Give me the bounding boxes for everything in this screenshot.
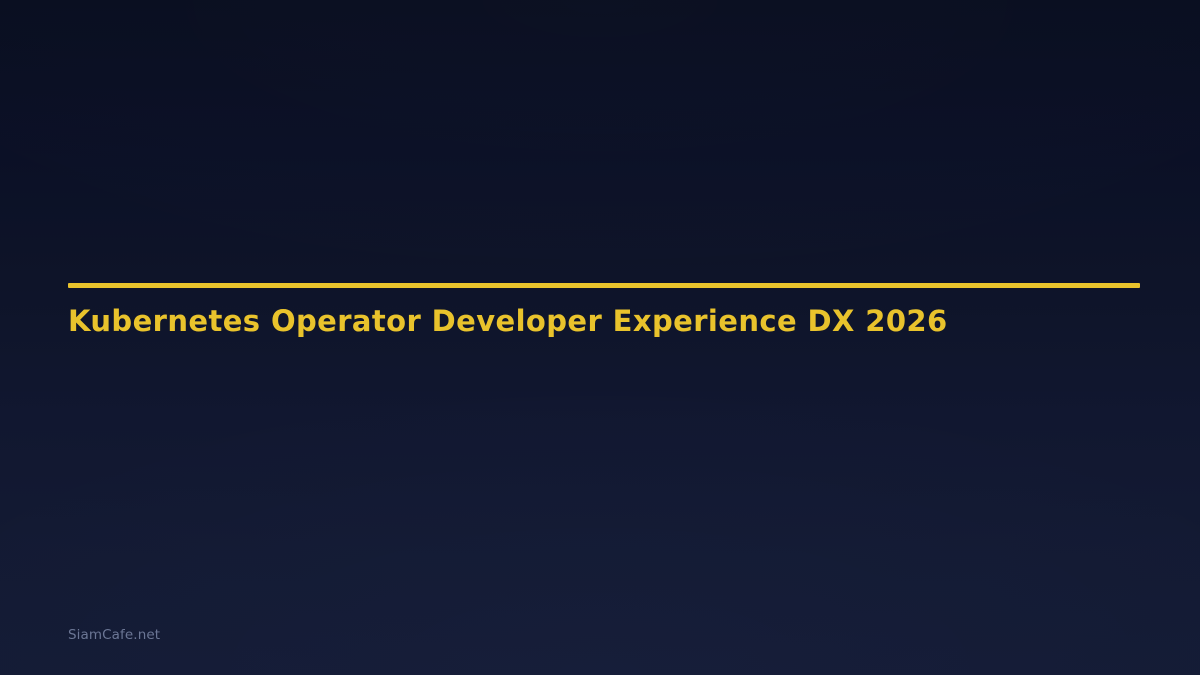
footer-brand: SiamCafe.net	[68, 629, 160, 643]
page-title: Kubernetes Operator Developer Experience…	[68, 288, 1140, 338]
title-block: Kubernetes Operator Developer Experience…	[68, 283, 1140, 338]
title-slide: Kubernetes Operator Developer Experience…	[0, 0, 1200, 675]
